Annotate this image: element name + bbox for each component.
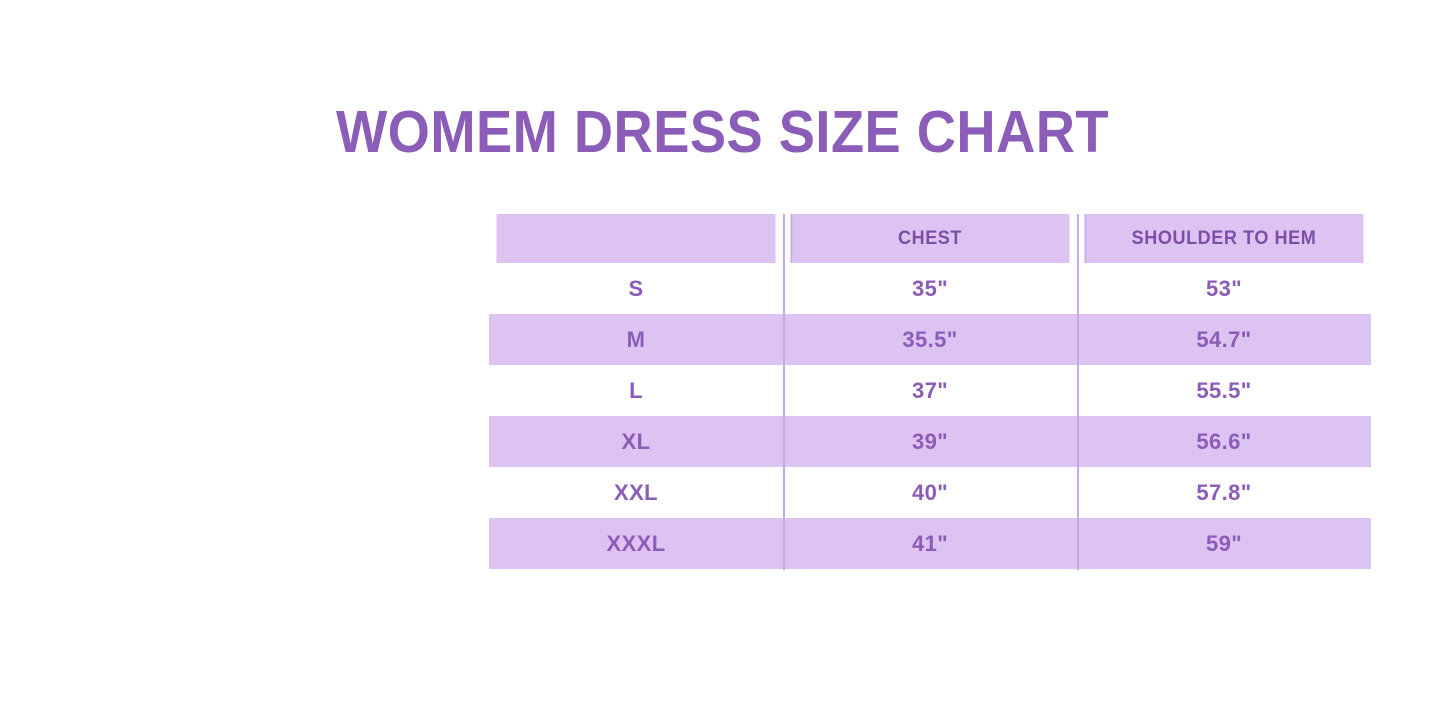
table-row: M 35.5" 54.7": [489, 314, 1371, 365]
column-header-chest: CHEST: [790, 214, 1069, 263]
cell-chest: 35": [783, 263, 1077, 314]
column-header-size: [496, 214, 775, 263]
size-chart-table: CHEST SHOULDER TO HEM S 35" 53" M 35.5" …: [489, 214, 1371, 569]
cell-shoulder-to-hem: 57.8": [1077, 467, 1371, 518]
page-title: WOMEM DRESS SIZE CHART: [58, 98, 1387, 166]
size-chart-table-container: CHEST SHOULDER TO HEM S 35" 53" M 35.5" …: [489, 214, 1371, 569]
cell-chest: 35.5": [783, 314, 1077, 365]
table-header: CHEST SHOULDER TO HEM: [489, 214, 1371, 263]
cell-size: M: [489, 314, 783, 365]
cell-size: XXXL: [489, 518, 783, 569]
column-header-shoulder-to-hem: SHOULDER TO HEM: [1084, 214, 1363, 263]
table-row: XXL 40" 57.8": [489, 467, 1371, 518]
cell-size: XXL: [489, 467, 783, 518]
table-row: S 35" 53": [489, 263, 1371, 314]
cell-size: S: [489, 263, 783, 314]
cell-shoulder-to-hem: 59": [1077, 518, 1371, 569]
cell-chest: 37": [783, 365, 1077, 416]
cell-shoulder-to-hem: 56.6": [1077, 416, 1371, 467]
cell-shoulder-to-hem: 53": [1077, 263, 1371, 314]
cell-shoulder-to-hem: 54.7": [1077, 314, 1371, 365]
table-header-row: CHEST SHOULDER TO HEM: [489, 214, 1371, 263]
table-row: XXXL 41" 59": [489, 518, 1371, 569]
cell-shoulder-to-hem: 55.5": [1077, 365, 1371, 416]
table-row: L 37" 55.5": [489, 365, 1371, 416]
size-chart-page: WOMEM DRESS SIZE CHART CHEST SHOULDER TO…: [0, 0, 1445, 723]
cell-size: L: [489, 365, 783, 416]
table-body: S 35" 53" M 35.5" 54.7" L 37" 55.5" XL 3…: [489, 263, 1371, 569]
table-row: XL 39" 56.6": [489, 416, 1371, 467]
cell-chest: 41": [783, 518, 1077, 569]
cell-chest: 40": [783, 467, 1077, 518]
cell-chest: 39": [783, 416, 1077, 467]
cell-size: XL: [489, 416, 783, 467]
